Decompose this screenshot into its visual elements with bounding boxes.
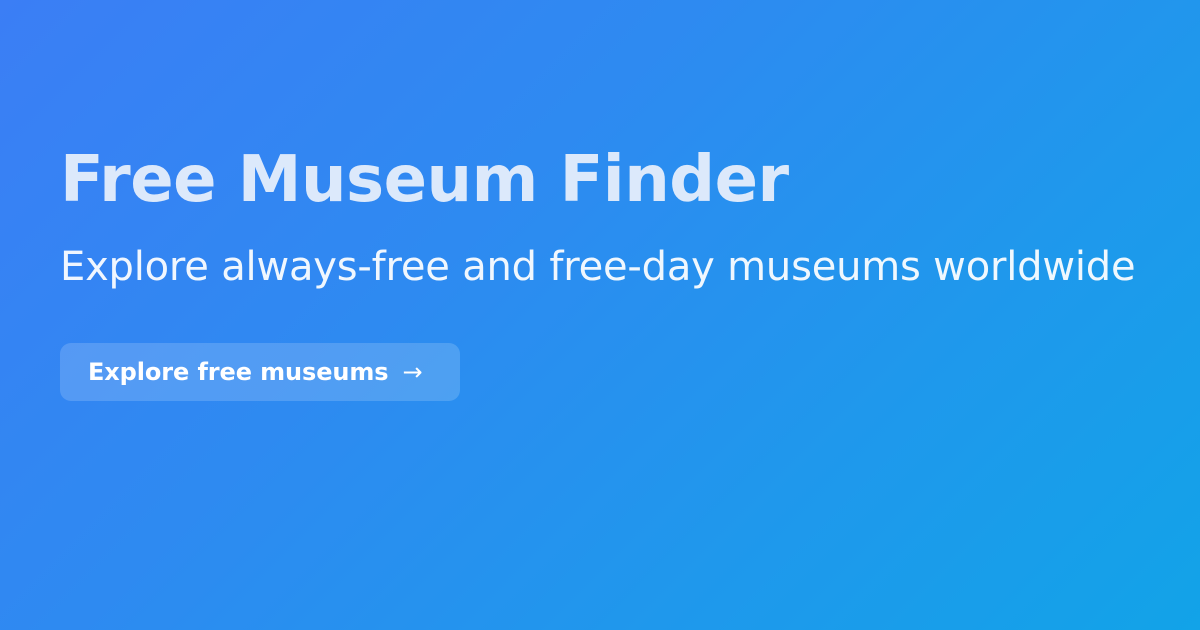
explore-free-museums-button[interactable]: Explore free museums → — [60, 343, 460, 401]
explore-free-museums-button-label: Explore free museums — [88, 360, 388, 384]
arrow-right-icon: → — [402, 360, 422, 384]
hero-banner: Free Museum Finder Explore always-free a… — [0, 0, 1200, 630]
page-subtitle: Explore always-free and free-day museums… — [60, 241, 1135, 293]
hero-content: Free Museum Finder Explore always-free a… — [60, 0, 1140, 630]
page-title: Free Museum Finder — [60, 142, 789, 218]
